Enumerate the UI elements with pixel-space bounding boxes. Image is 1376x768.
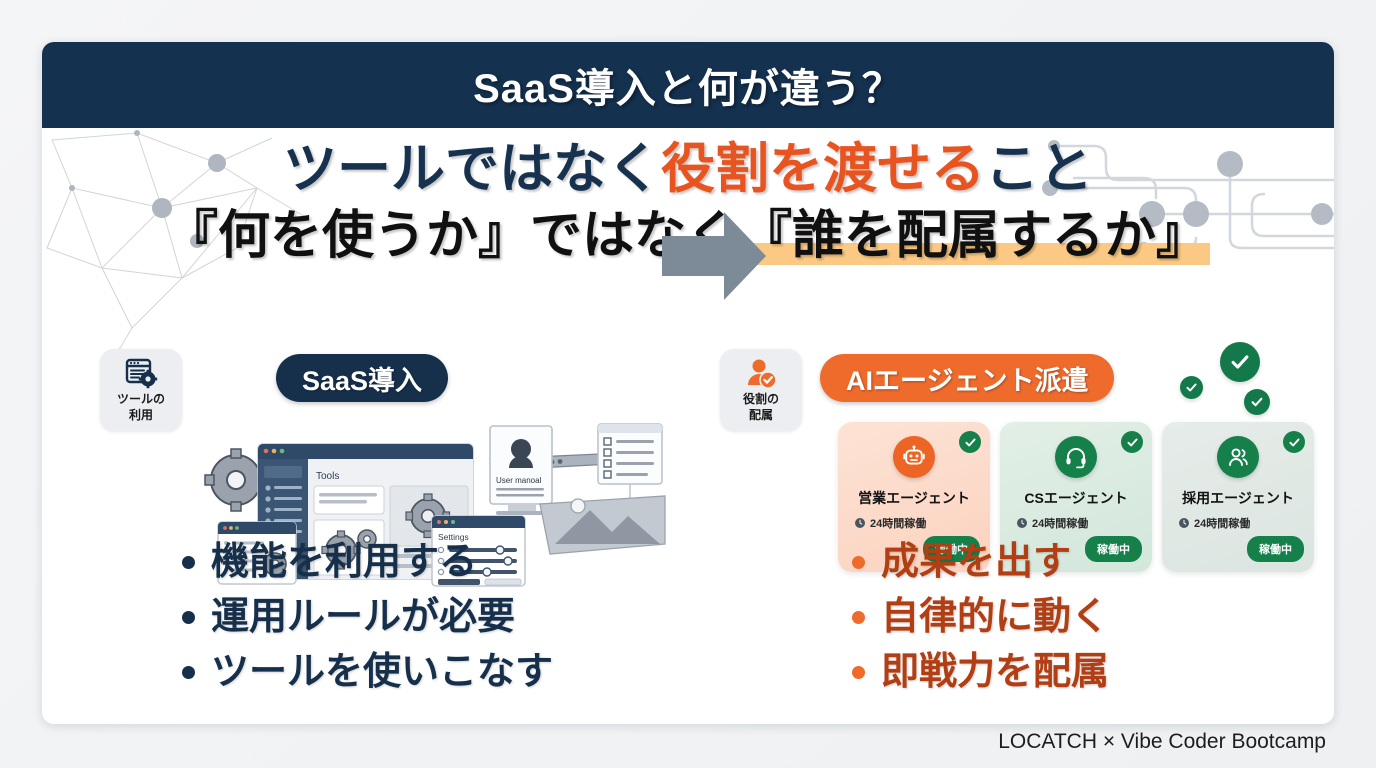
bullet-dot-icon [852,611,865,624]
check-icon [1288,436,1301,449]
agent-card-meta-text: 24時間稼働 [1194,515,1250,531]
bullet-label: ツールを使いこなす [211,650,553,695]
users-glyph [1226,445,1250,469]
agent-card-title: CSエージェント [1024,488,1127,508]
robot-glyph [902,445,926,469]
agent-card-meta: 24時間稼働 [854,515,926,531]
bullet-dot-icon [852,556,865,569]
agent-card-meta: 24時間稼働 [1178,515,1250,531]
headline-line-1: ツールではなく役割を渡せること [42,138,1334,202]
bullet-item: 運用ルールが必要 [182,595,553,640]
illustration-tools-label: Tools [316,471,339,482]
left-bullet-list: 機能を利用する 運用ルールが必要 ツールを使いこなす [182,540,553,704]
agent-status-badge: 稼働中 [1247,536,1304,562]
clock-icon [854,517,866,529]
transition-arrow-icon [658,200,770,312]
bullet-item: 機能を利用する [182,540,553,585]
robot-icon [893,436,935,478]
bullet-dot-icon [182,556,195,569]
footer-credit: LOCATCH × Vibe Coder Bootcamp [998,730,1326,754]
headset-icon [1055,436,1097,478]
check-icon [1229,351,1251,373]
person-check-icon [744,357,778,391]
agent-card-meta-text: 24時間稼働 [870,515,926,531]
check-icon [1185,381,1198,394]
bullet-label: 即戦力を配属 [881,650,1109,695]
bullet-item: 自律的に動く [852,595,1109,640]
slide-canvas: SaaS導入と何が違う？ [0,0,1376,768]
agent-card-meta-text: 24時間稼働 [1032,515,1088,531]
bullet-dot-icon [852,666,865,679]
bullet-item: 即戦力を配属 [852,650,1109,695]
bullet-label: 成果を出す [881,540,1071,585]
badge-tool-usage-label-1: ツールの [117,393,165,407]
headset-glyph [1064,445,1088,469]
floating-check-small-b [1244,389,1270,415]
bullet-item: 成果を出す [852,540,1109,585]
bullet-dot-icon [182,611,195,624]
headline-l1-part-b: 役割を渡せる [661,139,985,199]
agent-card-title: 営業エージェント [858,488,970,508]
headline-l2-part-b: 『誰を配属するか』 [738,207,1210,265]
card-check-badge [1283,431,1305,453]
card-check-badge [1121,431,1143,453]
check-icon [1126,436,1139,449]
slide-header: SaaS導入と何が違う？ [42,42,1334,128]
check-icon [964,436,977,449]
card-check-badge [959,431,981,453]
illustration-manual-label: User manoal [496,476,542,485]
page-title: SaaS導入と何が違う？ [473,56,903,114]
users-icon [1217,436,1259,478]
bullet-item: ツールを使いこなす [182,650,553,695]
headline-l2-part-a: 『何を使うか』ではなく [166,207,738,265]
pill-saas: SaaS導入 [276,354,448,402]
badge-tool-usage-label-2: 利用 [129,409,153,423]
floating-check-small-a [1180,376,1203,399]
headline-l1-part-c: こと [985,139,1093,199]
badge-role-assignment: 役割の 配属 [720,349,802,431]
clock-icon [1178,517,1190,529]
clock-icon [1016,517,1028,529]
bullet-label: 機能を利用する [211,540,477,585]
bullet-label: 運用ルールが必要 [211,595,515,640]
badge-role-assignment-label-2: 配属 [749,409,773,423]
agent-card-title: 採用エージェント [1182,488,1294,508]
badge-role-assignment-label-1: 役割の [743,393,779,407]
floating-check-large [1220,342,1260,382]
agent-card-meta: 24時間稼働 [1016,515,1088,531]
badge-tool-usage: ツールの 利用 [100,349,182,431]
bullet-label: 自律的に動く [881,595,1109,640]
headline-l1-part-a: ツールではなく [283,139,661,199]
browser-gear-icon [124,357,158,391]
pill-ai-agent: AIエージェント派遣 [820,354,1114,402]
agent-card-hr[interactable]: 採用エージェント 24時間稼働 稼働中 [1162,422,1314,572]
bullet-dot-icon [182,666,195,679]
right-bullet-list: 成果を出す 自律的に動く 即戦力を配属 [852,540,1109,704]
check-icon [1250,395,1264,409]
slide-card: SaaS導入と何が違う？ [42,42,1334,724]
